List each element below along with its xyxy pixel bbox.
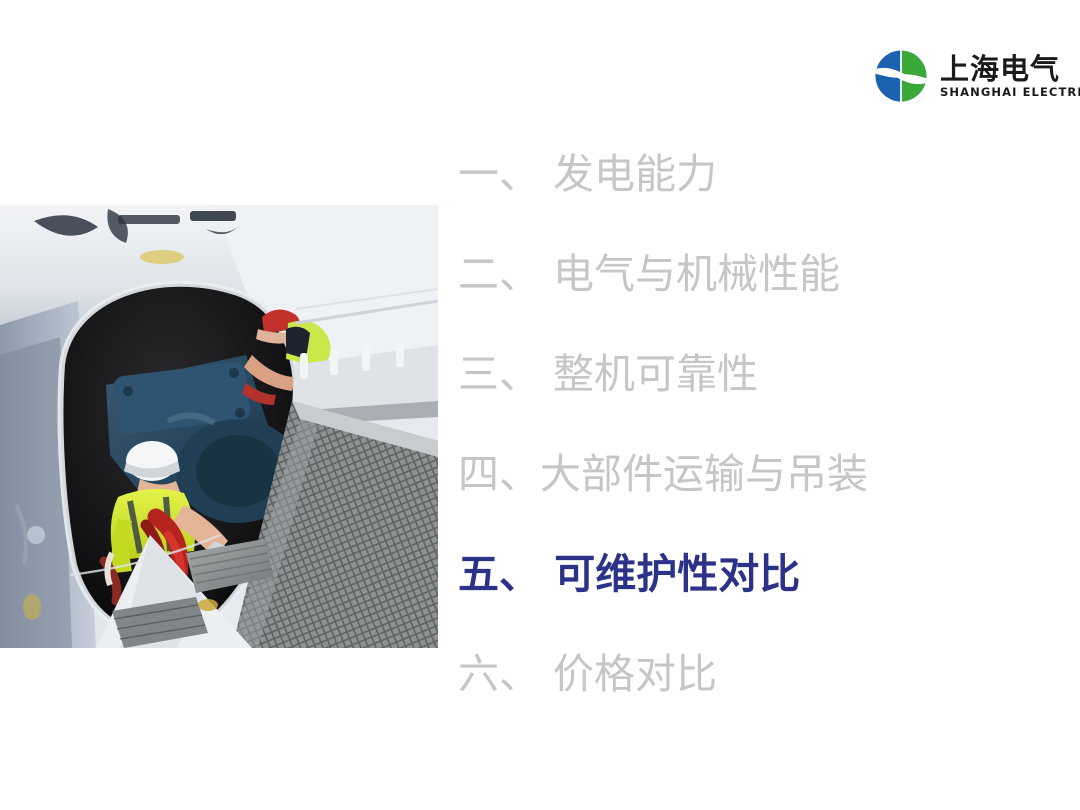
agenda-list: 一、 发电能力 二、 电气与机械性能 三、 整机可靠性 四、大部件运输与吊装 五… (458, 150, 1048, 750)
agenda-item-5[interactable]: 五、 可维护性对比 (458, 550, 1048, 598)
agenda-item-3[interactable]: 三、 整机可靠性 (458, 350, 1048, 398)
logo-name-en: SHANGHAI ELECTRIC (940, 87, 1080, 99)
agenda-item-1[interactable]: 一、 发电能力 (458, 150, 1048, 198)
shanghai-electric-emblem-icon (872, 47, 930, 105)
logo-wordmark: 上海电气 SHANGHAI ELECTRIC (940, 53, 1080, 99)
agenda-item-2[interactable]: 二、 电气与机械性能 (458, 250, 1048, 298)
nacelle-maintenance-photo (0, 205, 438, 648)
presentation-slide: 上海电气 SHANGHAI ELECTRIC (0, 0, 1080, 810)
logo-name-cn: 上海电气 (940, 55, 1080, 84)
agenda-item-6[interactable]: 六、 价格对比 (458, 650, 1048, 698)
shanghai-electric-logo: 上海电气 SHANGHAI ELECTRIC (872, 46, 1072, 106)
agenda-item-4[interactable]: 四、大部件运输与吊装 (458, 450, 1048, 498)
